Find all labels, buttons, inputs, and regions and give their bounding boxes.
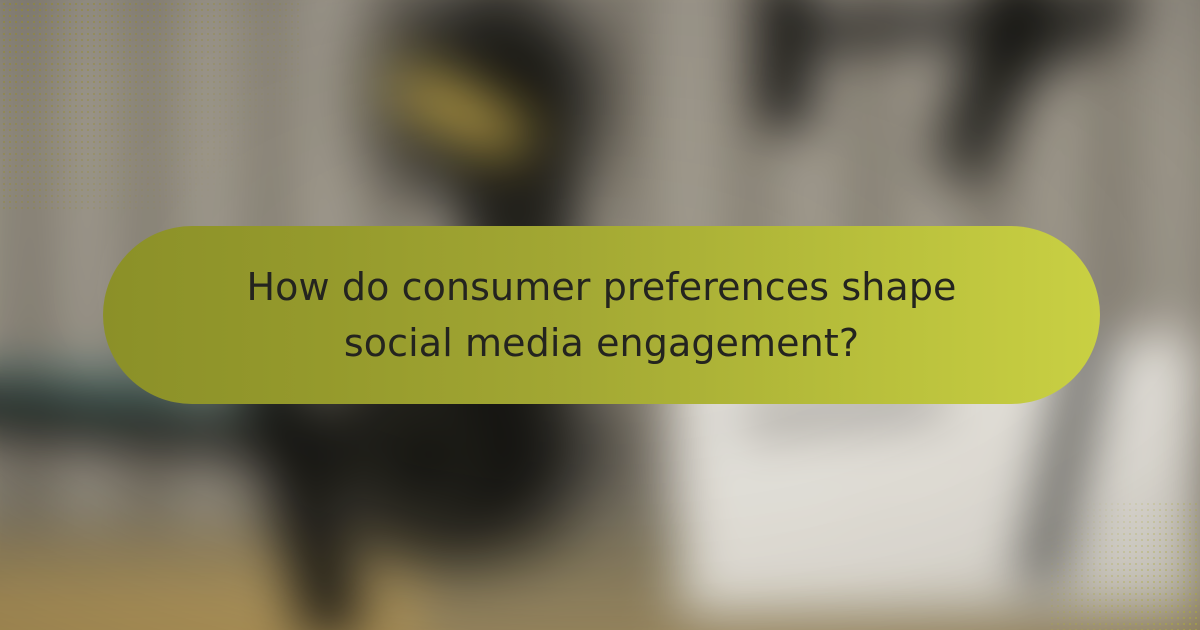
headline-pill: How do consumer preferences shape social… (103, 226, 1100, 404)
social-share-card: How do consumer preferences shape social… (0, 0, 1200, 630)
bike-crank-ring (370, 410, 476, 506)
page-title: How do consumer preferences shape social… (232, 259, 972, 371)
